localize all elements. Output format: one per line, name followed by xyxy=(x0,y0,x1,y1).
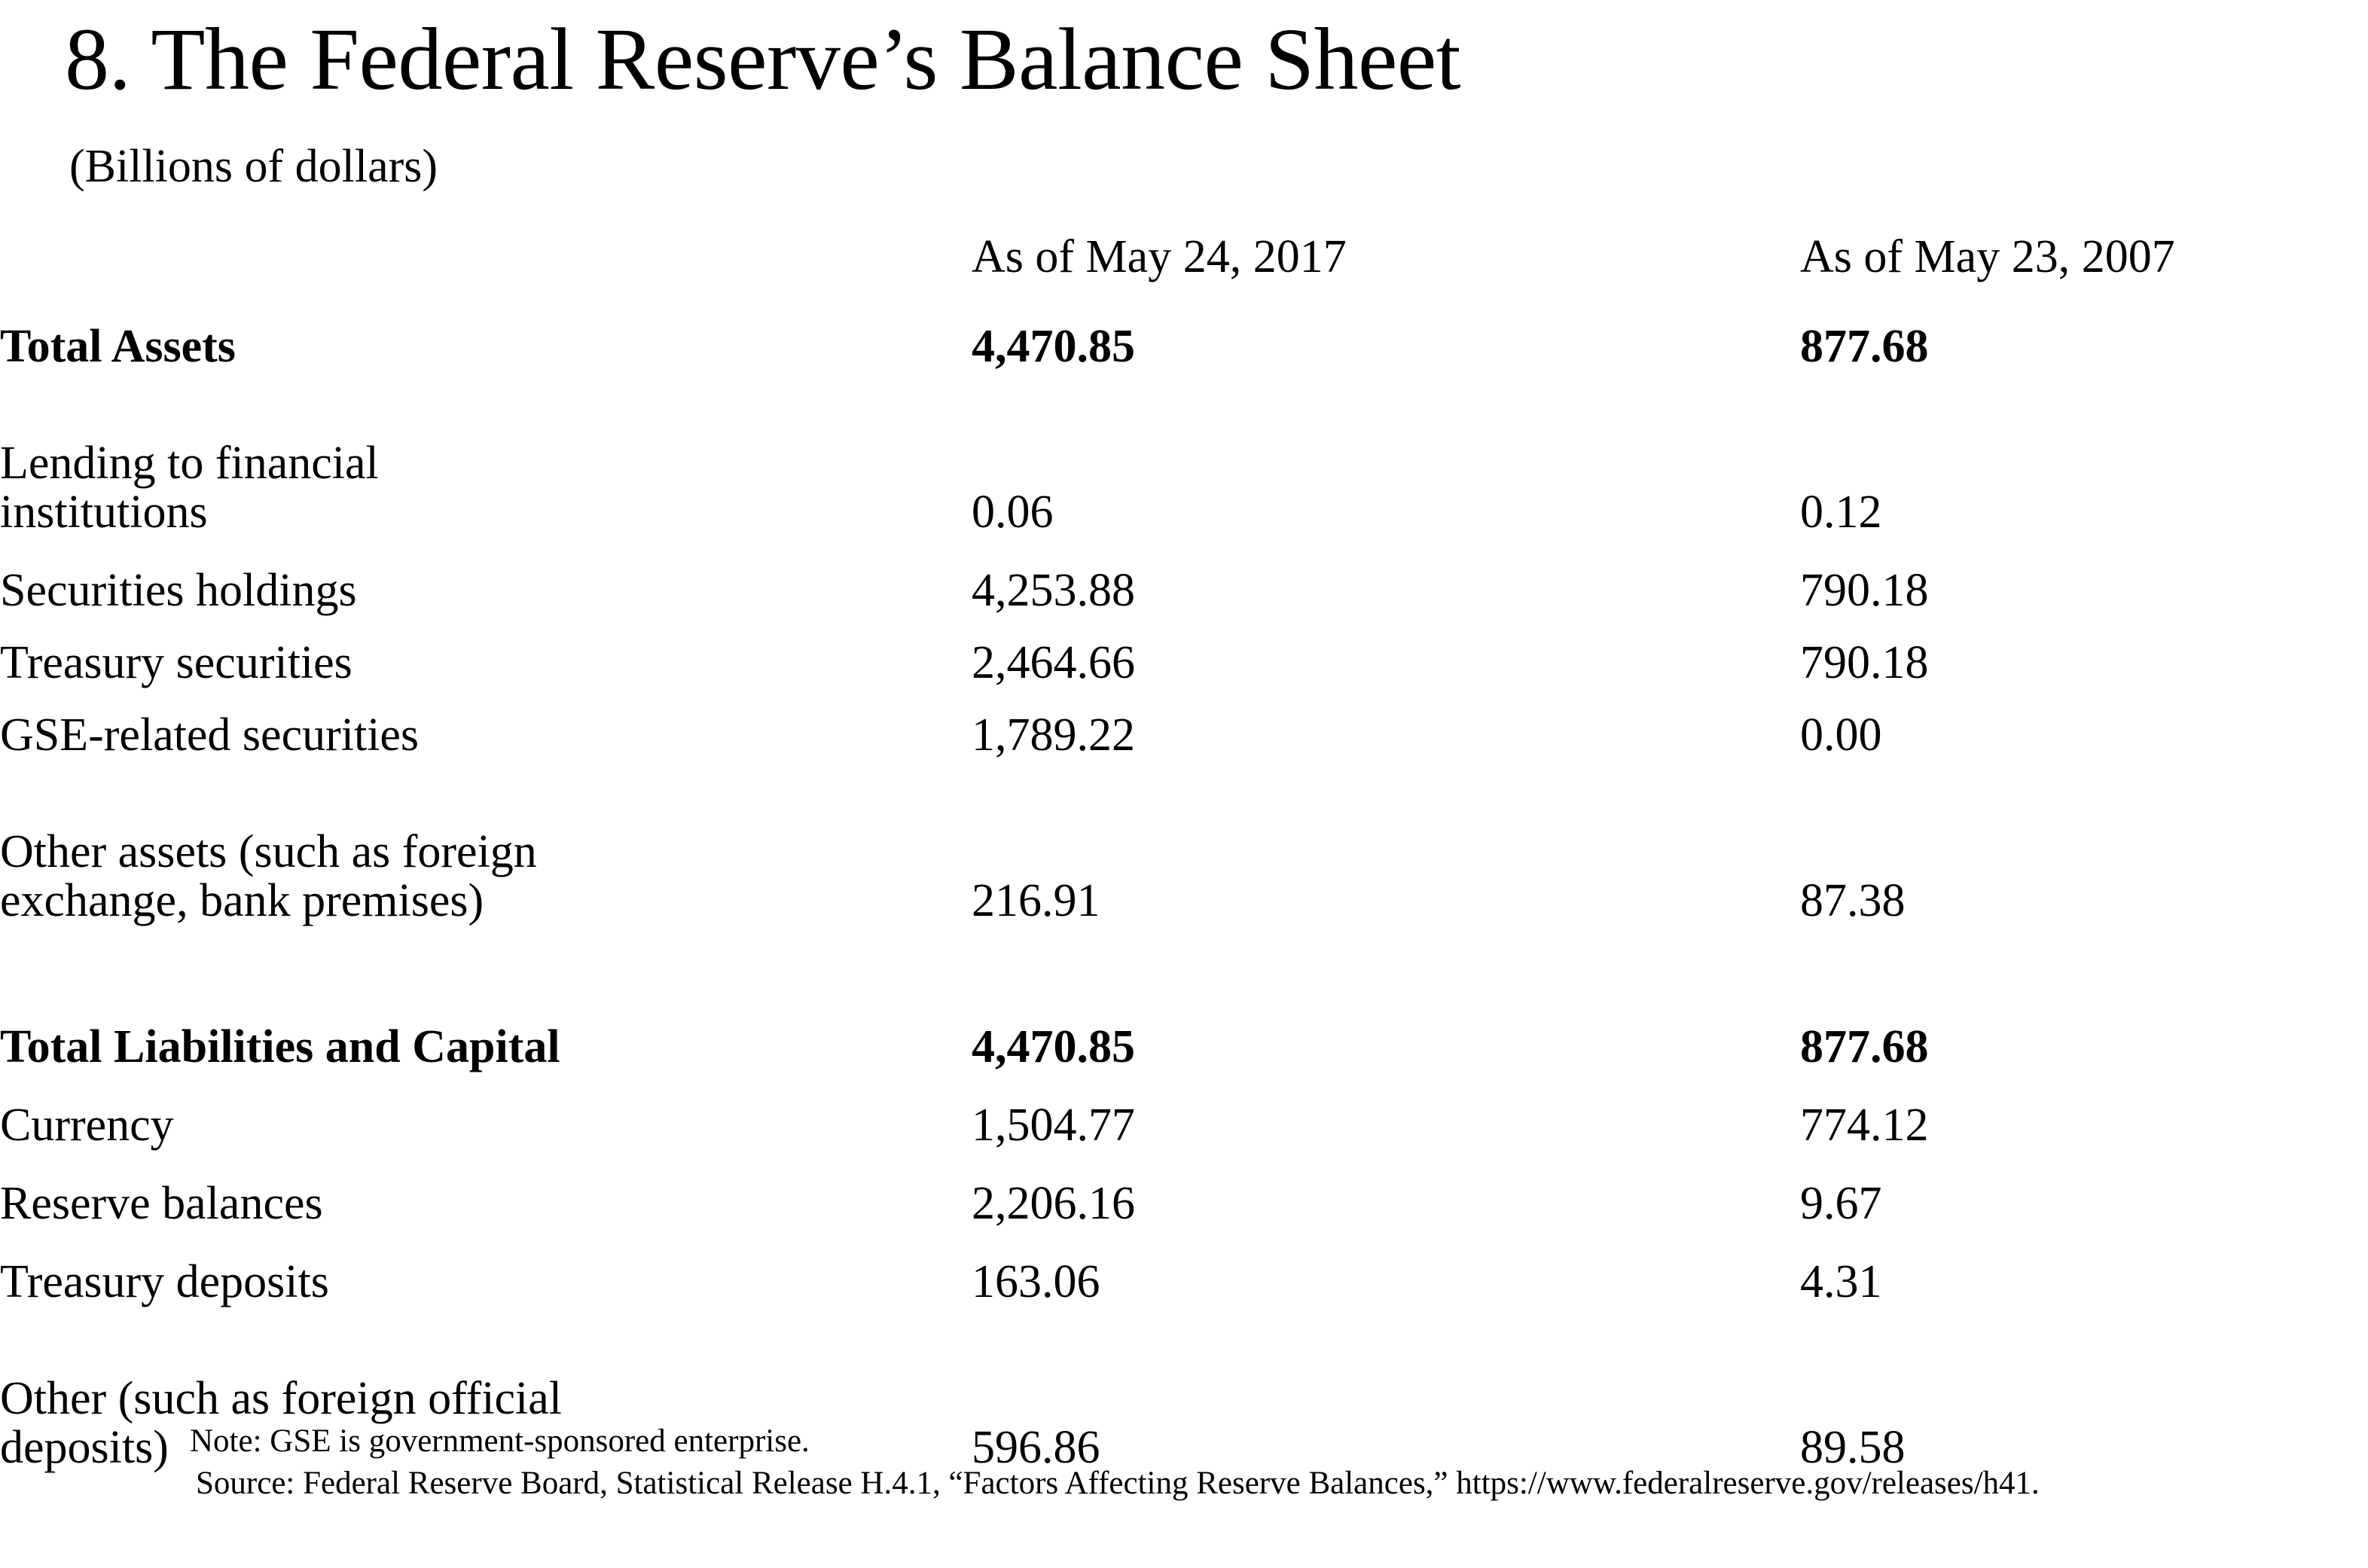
table-row: Other assets (such as foreign exchange, … xyxy=(0,761,2368,926)
row-gap xyxy=(1552,616,1800,688)
column-header-label xyxy=(0,233,972,280)
row-value-2007-total-liabilities-and-capital: 877.68 xyxy=(1800,981,2368,1072)
row-value-2017-securities-holdings: 4,253.88 xyxy=(972,538,1552,616)
table-header: As of May 24, 2017 As of May 23, 2007 xyxy=(0,233,2368,280)
row-value-2007-lending-to-financial-institutions: 0.12 xyxy=(1800,372,2368,538)
row-value-2007-treasury-deposits: 4.31 xyxy=(1800,1229,2368,1307)
table-row: Treasury deposits 163.06 4.31 xyxy=(0,1229,2368,1307)
spacer-cell xyxy=(1552,926,1800,981)
row-gap xyxy=(1552,761,1800,926)
row-gap xyxy=(1552,981,1800,1072)
table-row: Reserve balances 2,206.16 9.67 xyxy=(0,1151,2368,1229)
footnotes: Note: GSE is government-sponsored enterp… xyxy=(190,1420,2040,1505)
row-value-2017-total-liabilities-and-capital: 4,470.85 xyxy=(972,981,1552,1072)
row-gap xyxy=(1552,1151,1800,1229)
row-value-2007-reserve-balances: 9.67 xyxy=(1800,1151,2368,1229)
row-value-2007-gse-related-securities: 0.00 xyxy=(1800,688,2368,761)
row-value-2017-lending-to-financial-institutions: 0.06 xyxy=(972,372,1552,538)
row-gap xyxy=(1552,538,1800,616)
balance-sheet-table-wrapper: As of May 24, 2017 As of May 23, 2007 To… xyxy=(0,233,2368,1473)
row-value-2007-treasury-securities: 790.18 xyxy=(1800,616,2368,688)
row-gap xyxy=(1552,688,1800,761)
slide-root: 8. The Federal Reserve’s Balance Sheet (… xyxy=(0,0,2368,1568)
row-label-treasury-securities: Treasury securities xyxy=(0,616,972,688)
table-header-row: As of May 24, 2017 As of May 23, 2007 xyxy=(0,233,2368,280)
table-row: Securities holdings 4,253.88 790.18 xyxy=(0,538,2368,616)
table-body: Total Assets 4,470.85 877.68 Lending to … xyxy=(0,280,2368,1473)
row-label-securities-holdings: Securities holdings xyxy=(0,538,972,616)
column-header-gap xyxy=(1552,233,1800,280)
row-value-2007-other-assets: 87.38 xyxy=(1800,761,2368,926)
row-gap xyxy=(1552,280,1800,372)
note-line: Note: GSE is government-sponsored enterp… xyxy=(190,1420,2040,1463)
row-label-treasury-deposits: Treasury deposits xyxy=(0,1229,972,1307)
row-label-lending-to-financial-institutions: Lending to financial institutions xyxy=(0,372,972,538)
row-label-total-liabilities-and-capital: Total Liabilities and Capital xyxy=(0,981,972,1072)
table-row: Total Liabilities and Capital 4,470.85 8… xyxy=(0,981,2368,1072)
row-value-2017-total-assets: 4,470.85 xyxy=(972,280,1552,372)
table-row: Treasury securities 2,464.66 790.18 xyxy=(0,616,2368,688)
row-value-2017-currency: 1,504.77 xyxy=(972,1072,1552,1151)
row-gap xyxy=(1552,1072,1800,1151)
row-label-currency: Currency xyxy=(0,1072,972,1151)
table-row: Lending to financial institutions 0.06 0… xyxy=(0,372,2368,538)
row-gap xyxy=(1552,372,1800,538)
row-label-gse-related-securities: GSE-related securities xyxy=(0,688,972,761)
row-value-2007-total-assets: 877.68 xyxy=(1800,280,2368,372)
spacer-cell xyxy=(972,926,1552,981)
row-label-reserve-balances: Reserve balances xyxy=(0,1151,972,1229)
row-label-total-assets: Total Assets xyxy=(0,280,972,372)
spacer-cell xyxy=(1800,926,2368,981)
row-gap xyxy=(1552,1229,1800,1307)
balance-sheet-table: As of May 24, 2017 As of May 23, 2007 To… xyxy=(0,233,2368,1473)
source-line: Source: Federal Reserve Board, Statistic… xyxy=(190,1463,2040,1505)
row-value-2017-other-assets: 216.91 xyxy=(972,761,1552,926)
units-subtitle: (Billions of dollars) xyxy=(69,143,438,190)
page-title: 8. The Federal Reserve’s Balance Sheet xyxy=(65,14,1460,106)
row-value-2017-treasury-securities: 2,464.66 xyxy=(972,616,1552,688)
column-header-2017: As of May 24, 2017 xyxy=(972,233,1552,280)
table-row: GSE-related securities 1,789.22 0.00 xyxy=(0,688,2368,761)
table-row: Total Assets 4,470.85 877.68 xyxy=(0,280,2368,372)
row-label-other-assets: Other assets (such as foreign exchange, … xyxy=(0,761,972,926)
row-value-2017-reserve-balances: 2,206.16 xyxy=(972,1151,1552,1229)
column-header-2007: As of May 23, 2007 xyxy=(1800,233,2368,280)
section-spacer xyxy=(0,926,2368,981)
table-row: Currency 1,504.77 774.12 xyxy=(0,1072,2368,1151)
row-value-2017-gse-related-securities: 1,789.22 xyxy=(972,688,1552,761)
row-value-2007-securities-holdings: 790.18 xyxy=(1800,538,2368,616)
spacer-cell xyxy=(0,926,972,981)
row-value-2017-treasury-deposits: 163.06 xyxy=(972,1229,1552,1307)
row-value-2007-currency: 774.12 xyxy=(1800,1072,2368,1151)
